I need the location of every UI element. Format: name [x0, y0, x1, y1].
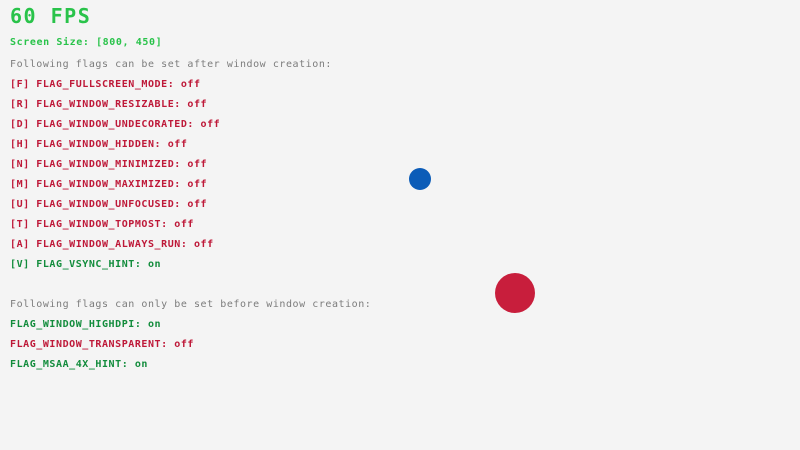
- flag-row-flag-vsync-hint[interactable]: [V] FLAG_VSYNC_HINT: on: [10, 260, 161, 270]
- ball-blue-circle: [409, 168, 431, 190]
- flag-row-flag-window-unfocused[interactable]: [U] FLAG_WINDOW_UNFOCUSED: off: [10, 200, 207, 210]
- flag-row-flag-window-transparent[interactable]: FLAG_WINDOW_TRANSPARENT: off: [10, 340, 194, 350]
- raylib-window-canvas: 60 FPS Screen Size: [800, 450] Following…: [0, 0, 800, 450]
- flag-row-flag-window-minimized[interactable]: [N] FLAG_WINDOW_MINIMIZED: off: [10, 160, 207, 170]
- flag-row-flag-window-resizable[interactable]: [R] FLAG_WINDOW_RESIZABLE: off: [10, 100, 207, 110]
- screen-size-label: Screen Size: [800, 450]: [10, 38, 162, 48]
- flag-row-flag-window-always-run[interactable]: [A] FLAG_WINDOW_ALWAYS_RUN: off: [10, 240, 214, 250]
- flag-row-flag-window-topmost[interactable]: [T] FLAG_WINDOW_TOPMOST: off: [10, 220, 194, 230]
- flag-row-flag-window-undecorated[interactable]: [D] FLAG_WINDOW_UNDECORATED: off: [10, 120, 220, 130]
- ball-red-circle: [495, 273, 535, 313]
- flag-row-flag-window-maximized[interactable]: [M] FLAG_WINDOW_MAXIMIZED: off: [10, 180, 207, 190]
- heading-flags-after-creation: Following flags can be set after window …: [10, 60, 332, 70]
- flag-row-flag-window-hidden[interactable]: [H] FLAG_WINDOW_HIDDEN: off: [10, 140, 187, 150]
- flag-row-flag-fullscreen-mode[interactable]: [F] FLAG_FULLSCREEN_MODE: off: [10, 80, 201, 90]
- heading-flags-before-creation: Following flags can only be set before w…: [10, 300, 371, 310]
- flag-row-flag-window-highdpi[interactable]: FLAG_WINDOW_HIGHDPI: on: [10, 320, 161, 330]
- flag-row-flag-msaa-4x-hint[interactable]: FLAG_MSAA_4X_HINT: on: [10, 360, 148, 370]
- fps-counter: 60 FPS: [10, 6, 91, 26]
